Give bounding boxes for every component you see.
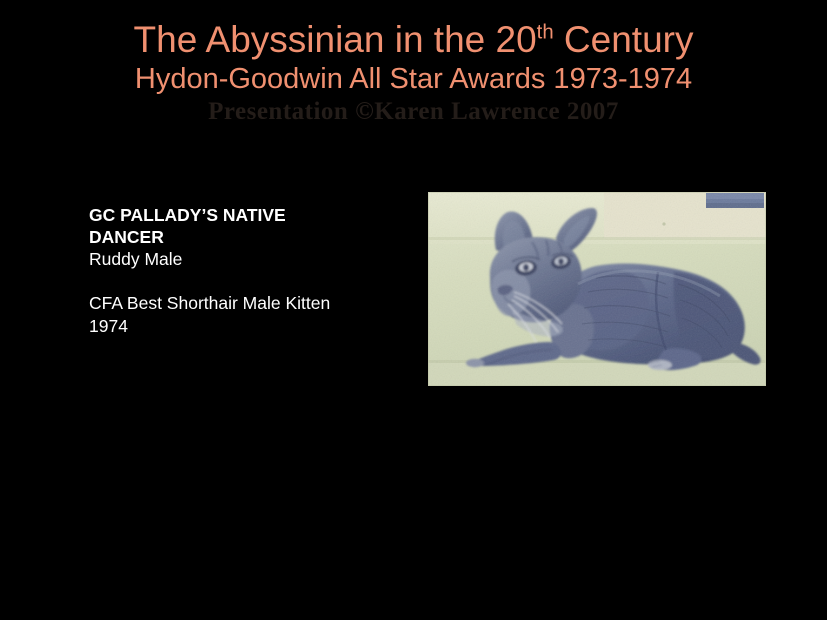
- cat-photograph: [428, 192, 766, 386]
- slide-title-block: The Abyssinian in the 20th Century Hydon…: [0, 18, 827, 126]
- cat-color-and-sex: Ruddy Male: [89, 248, 419, 270]
- caption-spacer: [89, 270, 419, 292]
- slide-canvas: The Abyssinian in the 20th Century Hydon…: [0, 0, 827, 620]
- cat-name-line-1: GC PALLADY’S NATIVE: [89, 204, 419, 226]
- presentation-credit: Presentation ©Karen Lawrence 2007: [0, 98, 827, 126]
- cat-name-line-2: DANCER: [89, 226, 419, 248]
- cat-photo-illustration: [428, 192, 766, 386]
- cat-award-title: CFA Best Shorthair Male Kitten: [89, 292, 419, 315]
- slide-subtitle: Hydon-Goodwin All Star Awards 1973-1974: [0, 62, 827, 96]
- slide-title-post: Century: [554, 19, 694, 60]
- slide-title: The Abyssinian in the 20th Century: [0, 18, 827, 61]
- cat-caption-block: GC PALLADY’S NATIVE DANCER Ruddy Male CF…: [89, 204, 419, 338]
- slide-title-ordinal-suffix: th: [537, 22, 554, 44]
- slide-title-pre: The Abyssinian in the 20: [134, 19, 537, 60]
- cat-award-year: 1974: [89, 315, 419, 338]
